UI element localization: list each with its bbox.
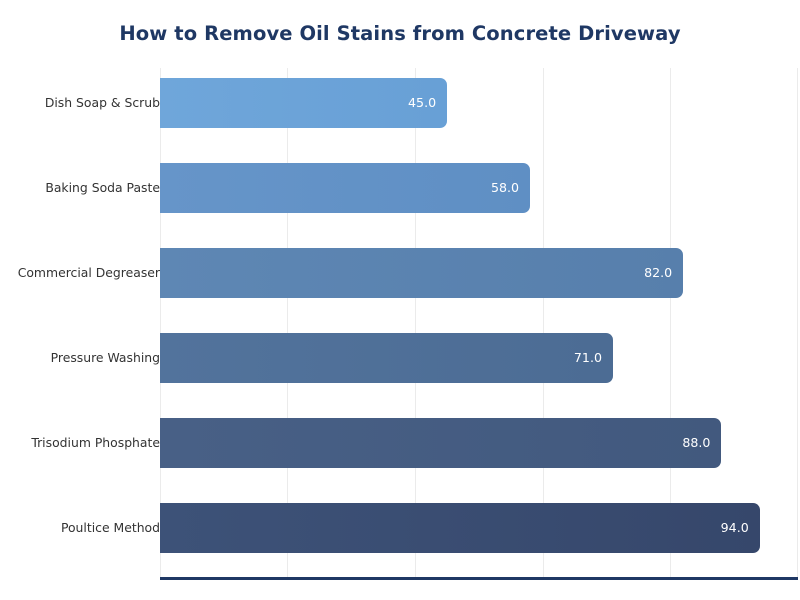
bar[interactable]: 58.0 [160,163,530,213]
bar-category-label: Dish Soap & Scrub [0,78,160,128]
bar[interactable]: 94.0 [160,503,760,553]
chart-figure: How to Remove Oil Stains from Concrete D… [0,0,800,600]
bar-category-label: Poultice Method [0,503,160,553]
plot-area [160,68,798,578]
bar[interactable]: 88.0 [160,418,721,468]
bar-row: Poultice Method 94.0 [0,503,800,553]
bar-row: Pressure Washing 71.0 [0,333,800,383]
x-axis-line [160,577,798,580]
bar-row: Dish Soap & Scrub 45.0 [0,78,800,128]
bar-row: Baking Soda Paste 58.0 [0,163,800,213]
gridline [287,68,288,578]
gridline [160,68,161,578]
bar-category-label: Trisodium Phosphate [0,418,160,468]
bar[interactable]: 82.0 [160,248,683,298]
bar-value-label: 58.0 [491,163,519,213]
bar-value-label: 94.0 [721,503,749,553]
bar-category-label: Baking Soda Paste [0,163,160,213]
gridline [797,68,798,578]
bar-row: Commercial Degreaser 82.0 [0,248,800,298]
bar-category-label: Pressure Washing [0,333,160,383]
gridline [543,68,544,578]
bar[interactable]: 45.0 [160,78,447,128]
bar-category-label: Commercial Degreaser [0,248,160,298]
bar-value-label: 45.0 [408,78,436,128]
bar-value-label: 82.0 [644,248,672,298]
bar-value-label: 88.0 [682,418,710,468]
chart-title: How to Remove Oil Stains from Concrete D… [0,22,800,45]
bar-value-label: 71.0 [574,333,602,383]
gridline [670,68,671,578]
bar-row: Trisodium Phosphate 88.0 [0,418,800,468]
bar[interactable]: 71.0 [160,333,613,383]
gridline [415,68,416,578]
